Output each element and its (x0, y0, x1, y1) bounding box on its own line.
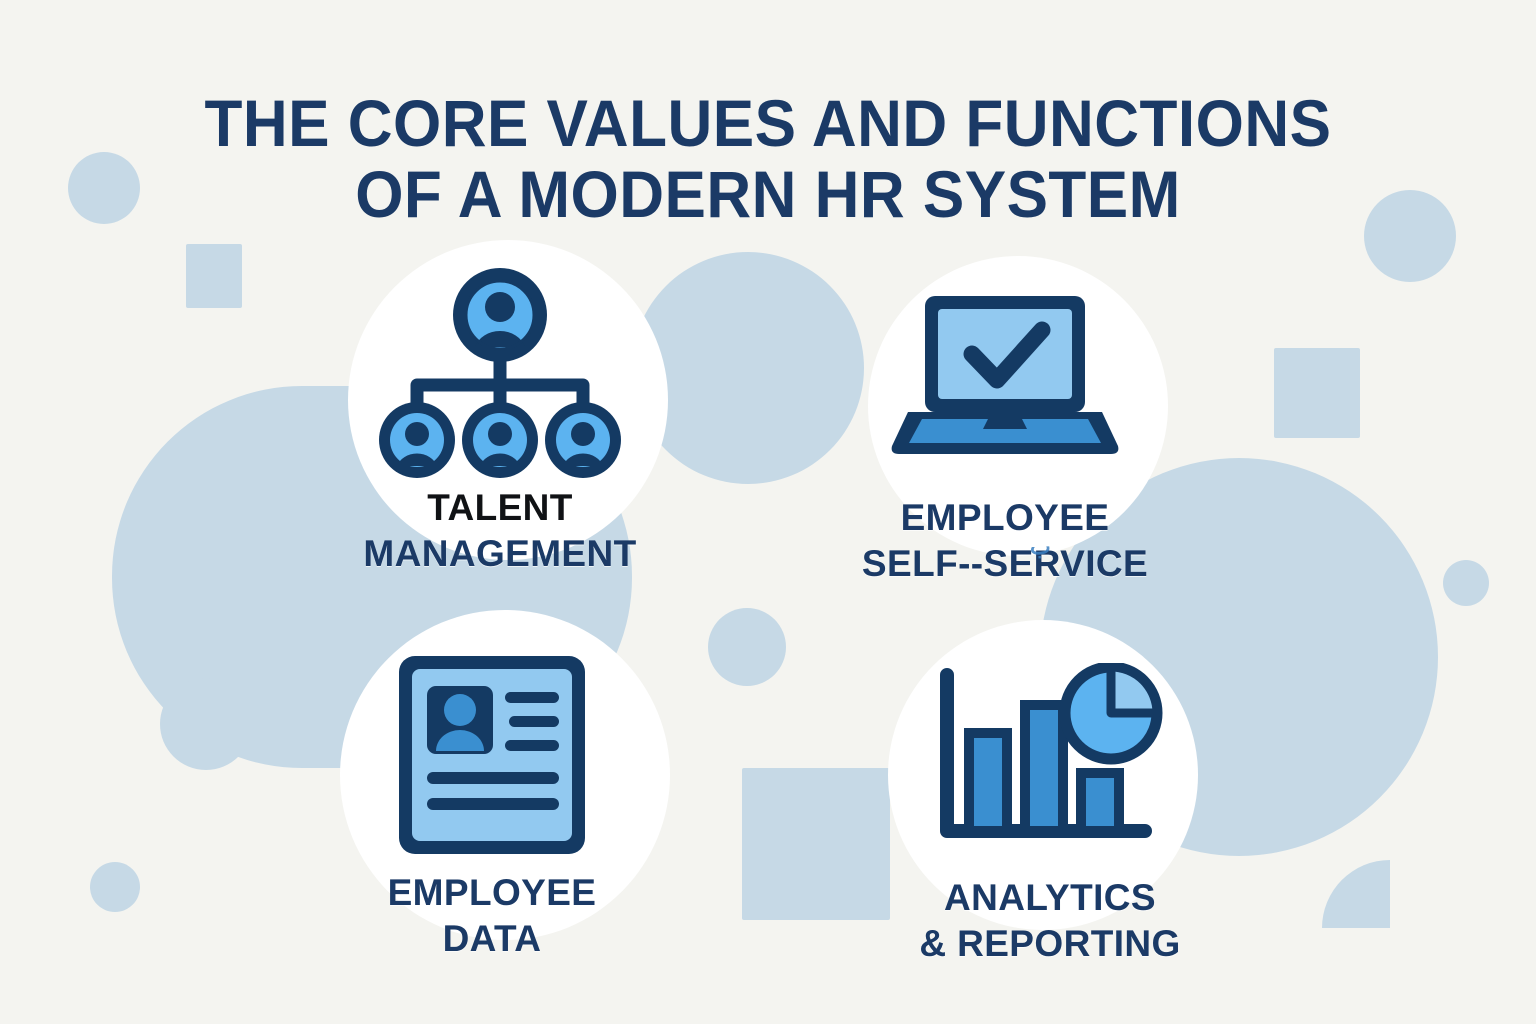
card-label-line-1: ANALYTICS (870, 875, 1230, 921)
page-title-line-2: OF A MODERN HR SYSTEM (46, 159, 1490, 230)
bg-square-bottom-center (742, 768, 890, 920)
card-label-line-2: DATA (312, 916, 672, 962)
page-title: THE CORE VALUES AND FUNCTIONS OF A MODER… (46, 88, 1490, 231)
card-label-line-2: MANAGEMENT (320, 531, 680, 577)
org-chart-people-icon (320, 255, 680, 485)
laptop-checkmark-icon (825, 265, 1185, 495)
card-employee-self-service[interactable]: EMPLOYEE SELF--SERVICE (825, 265, 1185, 587)
stray-glyph-artifact: ب (1030, 534, 1051, 560)
bg-square-top-left (186, 244, 242, 308)
card-analytics-reporting[interactable]: ANALYTICS & REPORTING (870, 645, 1230, 967)
bg-circle-small-left (90, 862, 140, 912)
infographic-canvas: THE CORE VALUES AND FUNCTIONS OF A MODER… (0, 0, 1536, 1024)
card-label-line-1: TALENT (320, 485, 680, 531)
card-talent-management[interactable]: TALENT MANAGEMENT (320, 255, 680, 577)
bg-square-right (1274, 348, 1360, 438)
bg-circle-small-right (1443, 560, 1489, 606)
card-employee-data[interactable]: EMPLOYEE DATA (312, 640, 672, 962)
card-label-line-2: SELF--SERVICE (825, 541, 1185, 587)
card-label-employee-self-service: EMPLOYEE SELF--SERVICE (825, 495, 1185, 587)
id-card-document-icon (312, 640, 672, 870)
bg-circle-mid-left (160, 678, 252, 770)
page-title-line-1: THE CORE VALUES AND FUNCTIONS (46, 88, 1490, 159)
card-label-line-1: EMPLOYEE (312, 870, 672, 916)
card-label-talent-management: TALENT MANAGEMENT (320, 485, 680, 577)
card-label-line-1: EMPLOYEE (825, 495, 1185, 541)
bar-chart-pie-chart-icon (870, 645, 1230, 875)
bg-quarter-bottom-right (1322, 860, 1390, 928)
bg-circle-center-small (708, 608, 786, 686)
card-label-employee-data: EMPLOYEE DATA (312, 870, 672, 962)
card-label-line-2: & REPORTING (870, 921, 1230, 967)
card-label-analytics-reporting: ANALYTICS & REPORTING (870, 875, 1230, 967)
